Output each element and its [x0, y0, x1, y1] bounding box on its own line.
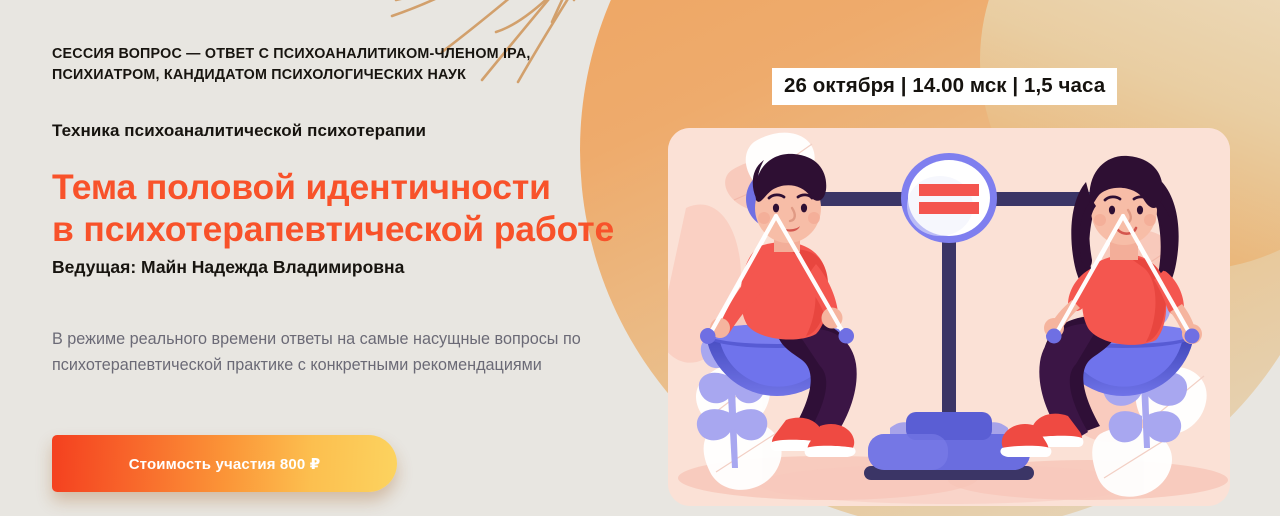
illustration-card [668, 128, 1230, 506]
headline-line-2: в психотерапевтической работе [52, 209, 652, 251]
page-title: Тема половой идентичности в психотерапев… [52, 167, 652, 250]
text-column: СЕССИЯ ВОПРОС — ОТВЕТ С ПСИХОАНАЛИТИКОМ-… [52, 44, 652, 378]
date-time-badge: 26 октября | 14.00 мск | 1,5 часа [772, 68, 1117, 105]
description-text: В режиме реального времени ответы на сам… [52, 326, 600, 378]
host-text: Ведущая: Майн Надежда Владимировна [52, 257, 652, 278]
subject-text: Техника психоаналитической психотерапии [52, 121, 652, 141]
equality-symbol-medallion [901, 153, 997, 243]
headline-line-1: Тема половой идентичности [52, 167, 551, 207]
price-cta-button[interactable]: Стоимость участия 800 ₽ [52, 435, 397, 492]
webinar-banner: СЕССИЯ ВОПРОС — ОТВЕТ С ПСИХОАНАЛИТИКОМ-… [0, 0, 1280, 516]
equals-bar-bottom [919, 202, 979, 214]
equals-bar-top [919, 184, 979, 196]
kicker-text: СЕССИЯ ВОПРОС — ОТВЕТ С ПСИХОАНАЛИТИКОМ-… [52, 44, 627, 85]
cta-container: Стоимость участия 800 ₽ [52, 435, 397, 492]
balance-scale-illustration [668, 128, 1230, 506]
